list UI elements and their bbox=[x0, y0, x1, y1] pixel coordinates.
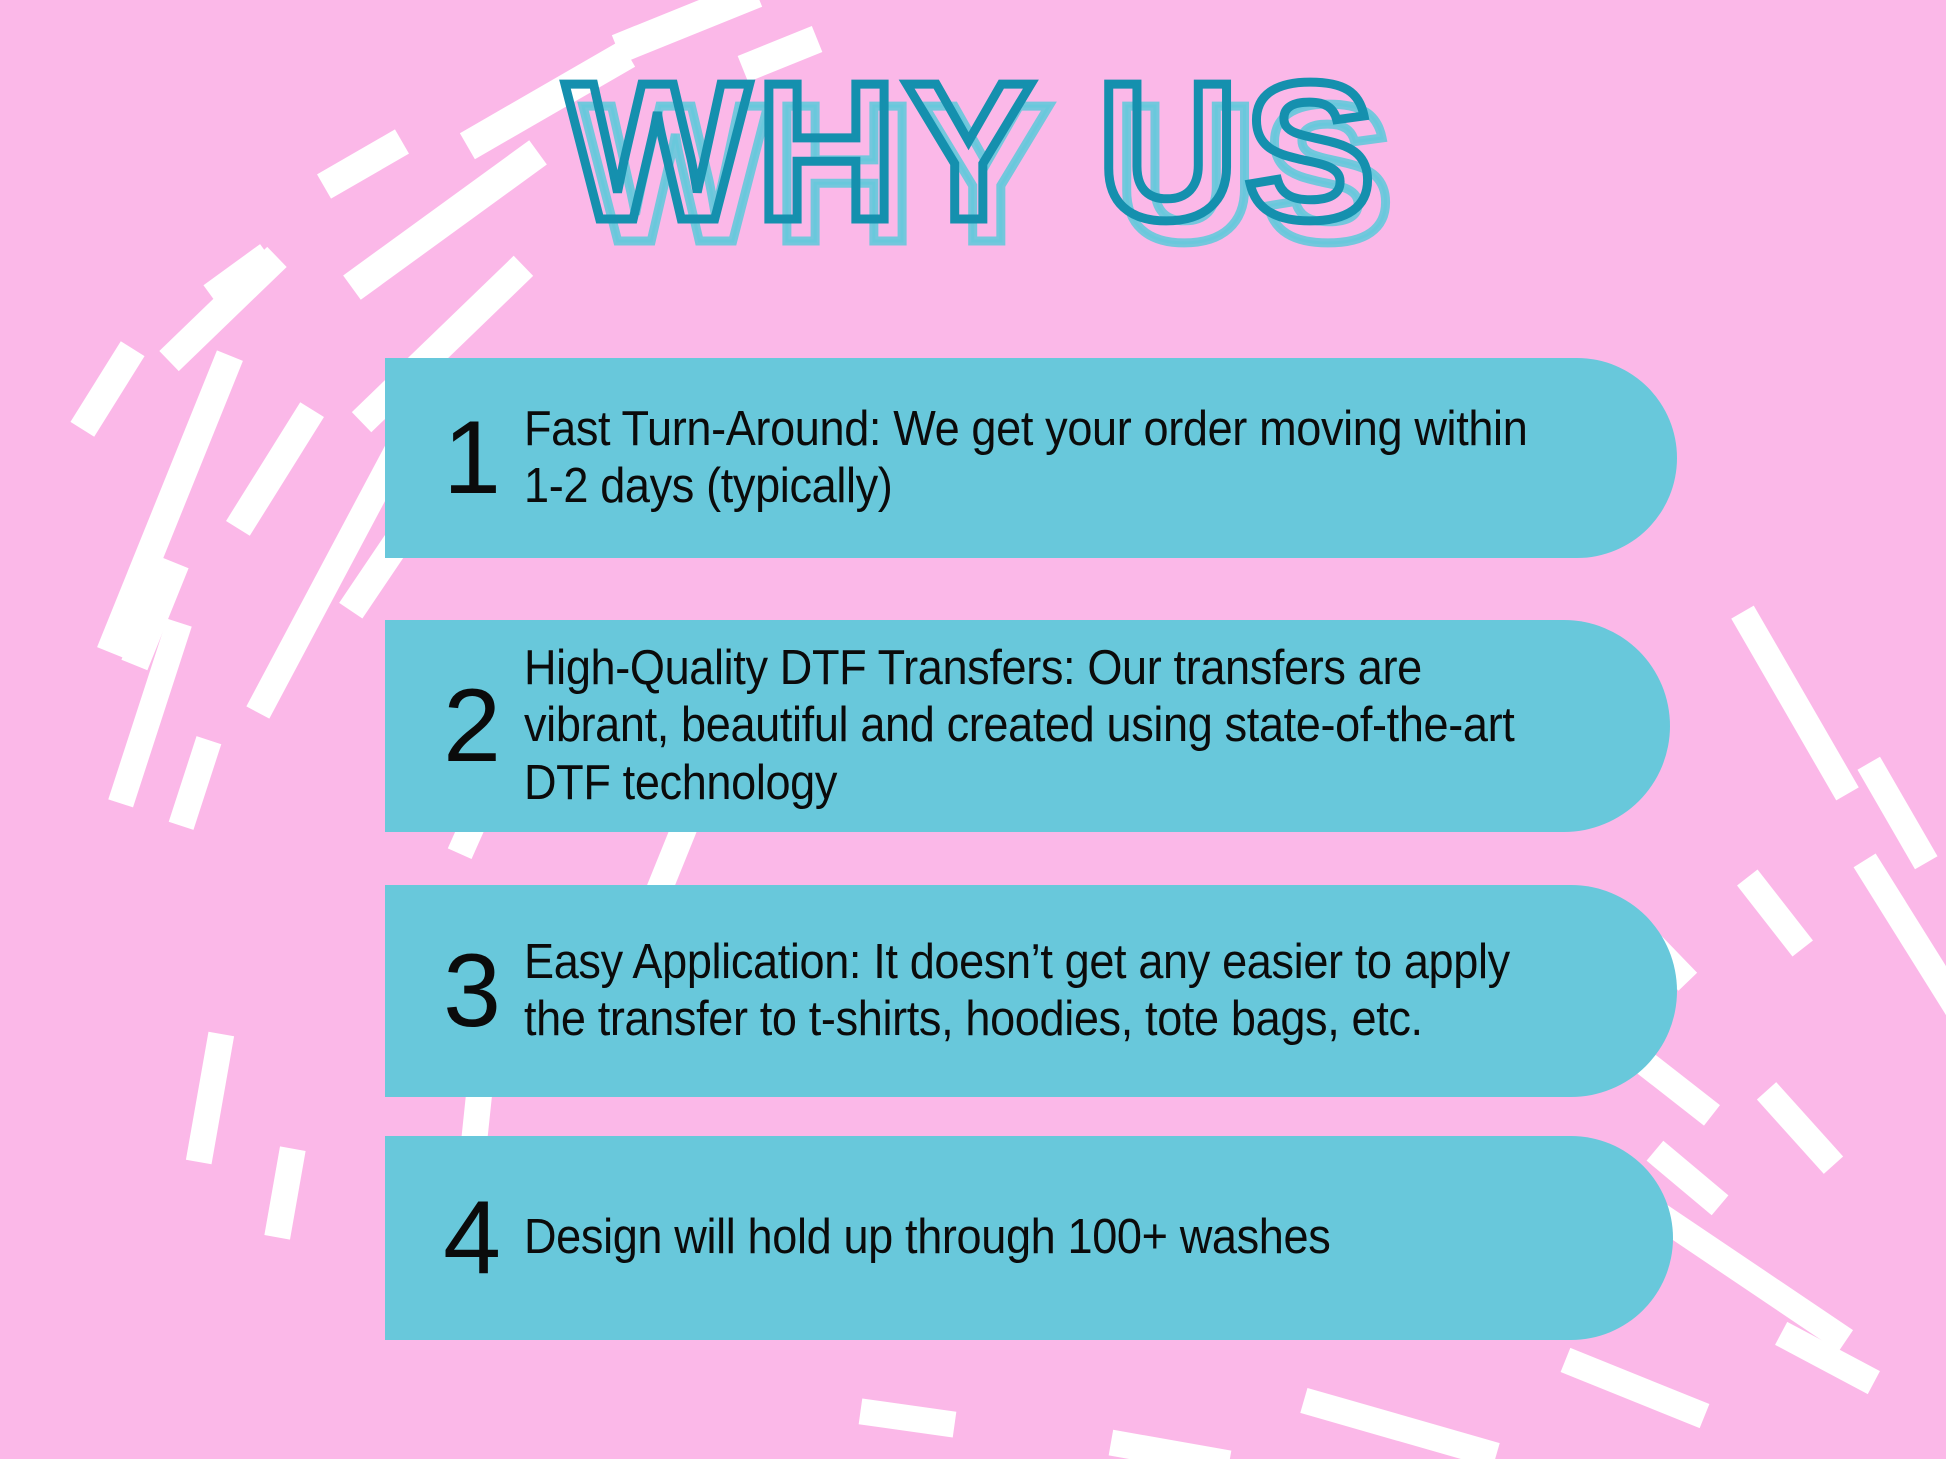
list-item-number: 3 bbox=[420, 939, 524, 1043]
list-item-text: Design will hold up through 100+ washes bbox=[524, 1209, 1581, 1266]
list-item-text: High-Quality DTF Transfers: Our transfer… bbox=[524, 640, 1578, 812]
benefits-list: 1 Fast Turn-Around: We get your order mo… bbox=[0, 0, 1946, 1459]
list-item-text: Fast Turn-Around: We get your order movi… bbox=[524, 401, 1585, 516]
list-item-number: 2 bbox=[420, 674, 524, 778]
list-item: 1 Fast Turn-Around: We get your order mo… bbox=[385, 358, 1677, 558]
list-item-number: 4 bbox=[420, 1186, 524, 1290]
list-item-number: 1 bbox=[420, 406, 524, 510]
list-item: 4 Design will hold up through 100+ washe… bbox=[385, 1136, 1673, 1340]
list-item: 3 Easy Application: It doesn’t get any e… bbox=[385, 885, 1677, 1097]
poster-canvas: WHY US WHY US WHY US WHY US 1 Fast Turn-… bbox=[0, 0, 1946, 1459]
list-item-text: Easy Application: It doesn’t get any eas… bbox=[524, 934, 1585, 1049]
list-item: 2 High-Quality DTF Transfers: Our transf… bbox=[385, 620, 1670, 832]
